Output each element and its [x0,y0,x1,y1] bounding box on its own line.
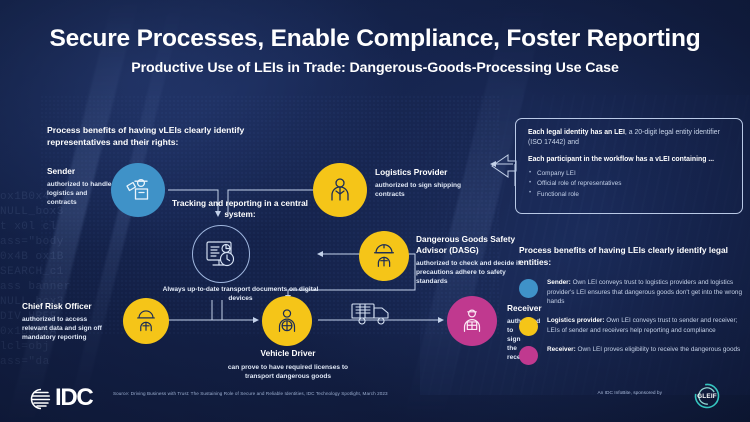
safety-advisor-avatar-icon [359,231,409,281]
page-title: Secure Processes, Enable Compliance, Fos… [0,26,750,53]
receiver-label-block: Receiver authorized to sign the receivin… [435,303,511,362]
callout-line-1: Each legal identity has an LEI, a 20-dig… [528,128,731,148]
list-item: Receiver: Own LEI proves eligibility to … [519,345,747,365]
legend-dot-sender [519,279,538,298]
legend-label-receiver: Receiver: [547,346,576,353]
logistics-provider-description: authorized to sign shipping contracts [375,181,475,199]
gleif-logo: GLEIF [684,381,730,411]
legend-dot-receiver [519,346,538,365]
logistics-provider-avatar-icon [313,163,367,217]
idc-logo: IDC [28,384,92,412]
sender-label-block: Sender authorized to handle logistics an… [47,166,117,207]
chief-risk-officer-label-block: Chief Risk Officer authorized to access … [22,301,110,342]
monitor-analytics-clock-icon [192,225,250,283]
header: Secure Processes, Enable Compliance, Fos… [0,26,750,76]
idc-globe-icon [28,385,54,411]
legend-text-sender: Sender: Own LEI conveys trust to logisti… [547,278,747,307]
list-item: Sender: Own LEI conveys trust to logisti… [519,278,747,307]
logistics-provider-label-block: Logistics Provider authorized to sign sh… [375,167,475,199]
legend-label-logistics-provider: Logistics provider: [547,317,605,324]
idc-wordmark: IDC [55,384,92,412]
sender-name: Sender [47,166,117,177]
sender-description: authorized to handle logistics and contr… [47,180,117,207]
legend-dot-logistics-provider [519,317,538,336]
list-item: Logistics provider: Own LEI conveys trus… [519,316,747,336]
chief-risk-officer-name: Chief Risk Officer [22,301,110,312]
receiver-description: authorized to sign the receiving [507,317,511,362]
legend-body-receiver: Own LEI proves eligibility to receive th… [576,346,740,353]
lei-definition-callout: Each legal identity has an LEI, a 20-dig… [515,118,743,214]
central-system-heading: Tracking and reporting in a central syst… [165,198,315,220]
vehicle-driver-avatar-icon [262,296,312,346]
receiver-name: Receiver [507,303,511,314]
logistics-provider-name: Logistics Provider [375,167,475,178]
vehicle-driver-name: Vehicle Driver [218,348,358,359]
legend-body-sender: Own LEI conveys trust to logistics provi… [547,279,742,305]
delivery-truck-icon [349,299,397,329]
sponsor-text: An IDC InfoBite, sponsored by [597,391,662,396]
legend-text-logistics-provider: Logistics provider: Own LEI conveys trus… [547,316,747,335]
list-item: Official role of representatives [528,179,731,189]
list-item: Company LEI [528,169,731,179]
callout-line-1-bold: Each legal identity has an LEI [528,129,625,136]
chief-risk-officer-avatar-icon [123,298,169,344]
callout-bullet-list: Company LEI Official role of representat… [528,169,731,200]
safety-advisor-description: authorized to check and decide if precau… [416,259,522,286]
safety-advisor-name: Dangerous Goods Safety Advisor (DASG) [416,234,522,256]
callout-line-2: Each participant in the workflow has a v… [528,155,731,165]
process-benefits-heading: Process benefits of having vLEIs clearly… [47,124,297,149]
chief-risk-officer-description: authorized to access relevant data and s… [22,315,110,342]
page-subtitle: Productive Use of LEIs in Trade: Dangero… [0,60,750,76]
sender-avatar-icon [111,163,165,217]
legend-text-receiver: Receiver: Own LEI proves eligibility to … [547,345,740,355]
footer: IDC Source: Driving Business with Trust:… [0,376,750,422]
legend: Process benefits of having LEIs clearly … [519,245,747,374]
safety-advisor-label-block: Dangerous Goods Safety Advisor (DASG) au… [416,234,522,286]
gleif-wordmark: GLEIF [697,393,717,400]
list-item: Functional role [528,190,731,200]
source-citation: Source: Driving Business with Trust: The… [113,391,388,396]
legend-heading: Process benefits of having LEIs clearly … [519,245,747,269]
legend-label-sender: Sender: [547,279,571,286]
